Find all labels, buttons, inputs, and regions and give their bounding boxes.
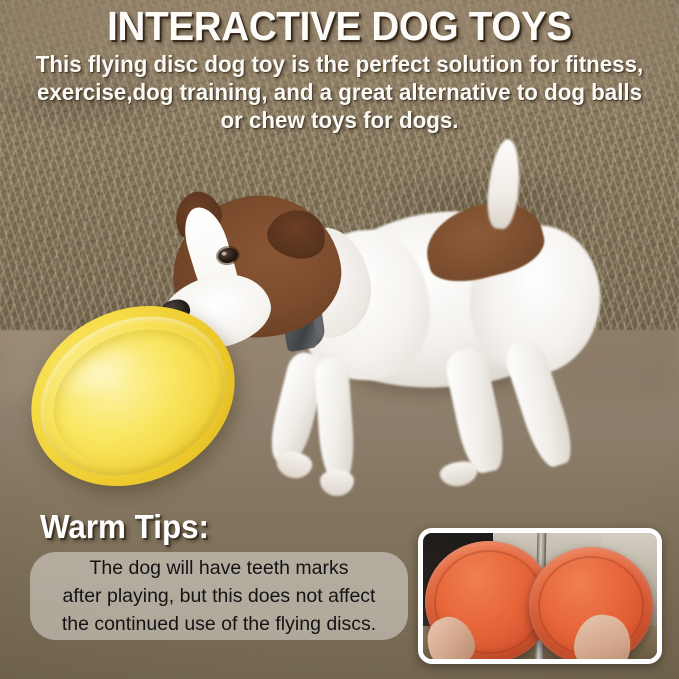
- header-text-block: INTERACTIVE DOG TOYS This flying disc do…: [0, 0, 679, 134]
- page-title: INTERACTIVE DOG TOYS: [28, 4, 651, 48]
- subtitle: This flying disc dog toy is the perfect …: [18, 50, 661, 134]
- warm-tips-line-3: the continued use of the flying discs.: [62, 610, 376, 638]
- warm-tips-line-1: The dog will have teeth marks: [89, 554, 348, 582]
- product-poster: INTERACTIVE DOG TOYS This flying disc do…: [0, 0, 679, 679]
- inset-scene: [423, 533, 657, 659]
- warm-tips-callout: The dog will have teeth marks after play…: [30, 552, 408, 640]
- inset-photo-orange-discs: [418, 528, 662, 664]
- warm-tips-heading: Warm Tips:: [40, 508, 209, 546]
- subtitle-line-1: This flying disc dog toy is the perfect …: [18, 50, 661, 78]
- subtitle-line-2: exercise,dog training, and a great alter…: [18, 78, 661, 106]
- warm-tips-line-2: after playing, but this does not affect: [63, 582, 376, 610]
- subtitle-line-3: or chew toys for dogs.: [18, 106, 661, 134]
